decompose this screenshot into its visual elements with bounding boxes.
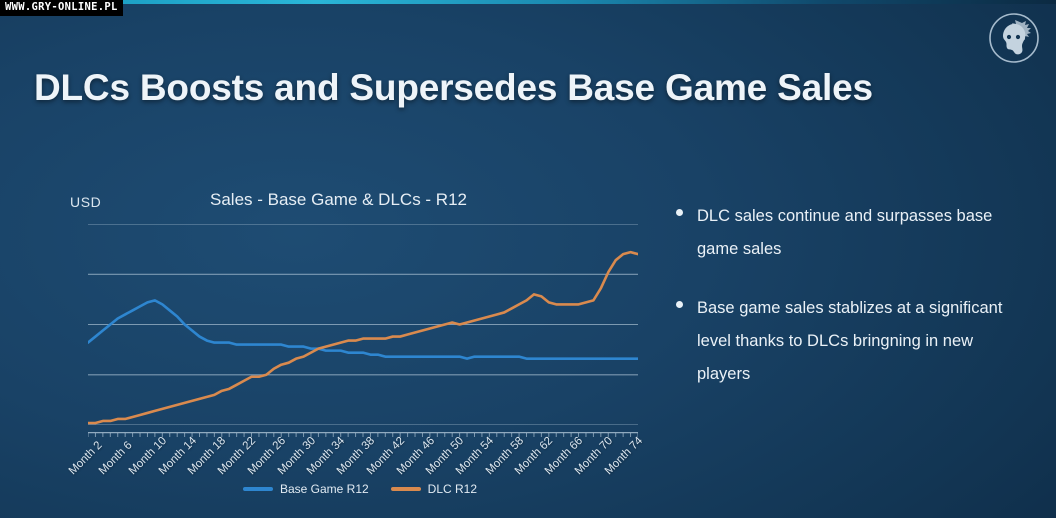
chart-plot-area	[88, 224, 638, 425]
page-title: DLCs Boosts and Supersedes Base Game Sal…	[34, 66, 873, 110]
series-line-base-game-r12	[88, 300, 638, 358]
bullet-dot-icon	[676, 301, 683, 308]
watermark: WWW.GRY-ONLINE.PL	[0, 0, 123, 16]
legend-label: DLC R12	[428, 482, 477, 496]
y-axis-label: USD	[70, 194, 101, 210]
series-line-dlc-r12	[88, 252, 638, 423]
sales-chart: USD Sales - Base Game & DLCs - R12 Month…	[60, 182, 660, 492]
slide-background: WWW.GRY-ONLINE.PL DLCs Boosts and Supers…	[0, 0, 1056, 518]
legend-item: DLC R12	[391, 482, 477, 496]
list-item: Base game sales stablizes at a significa…	[676, 292, 1028, 391]
legend-item: Base Game R12	[243, 482, 369, 496]
bullet-dot-icon	[676, 209, 683, 216]
list-item-label: Base game sales stablizes at a significa…	[697, 292, 1028, 391]
chart-legend: Base Game R12DLC R12	[60, 482, 660, 496]
legend-swatch-icon	[391, 487, 421, 491]
company-logo	[988, 12, 1040, 64]
x-axis	[88, 425, 638, 431]
list-item-label: DLC sales continue and surpasses base ga…	[697, 200, 1028, 266]
chart-title: Sales - Base Game & DLCs - R12	[210, 190, 467, 210]
list-item: DLC sales continue and surpasses base ga…	[676, 200, 1028, 266]
insights-list: DLC sales continue and surpasses base ga…	[676, 200, 1028, 417]
legend-swatch-icon	[243, 487, 273, 491]
top-accent-strip	[0, 0, 1056, 4]
legend-label: Base Game R12	[280, 482, 369, 496]
